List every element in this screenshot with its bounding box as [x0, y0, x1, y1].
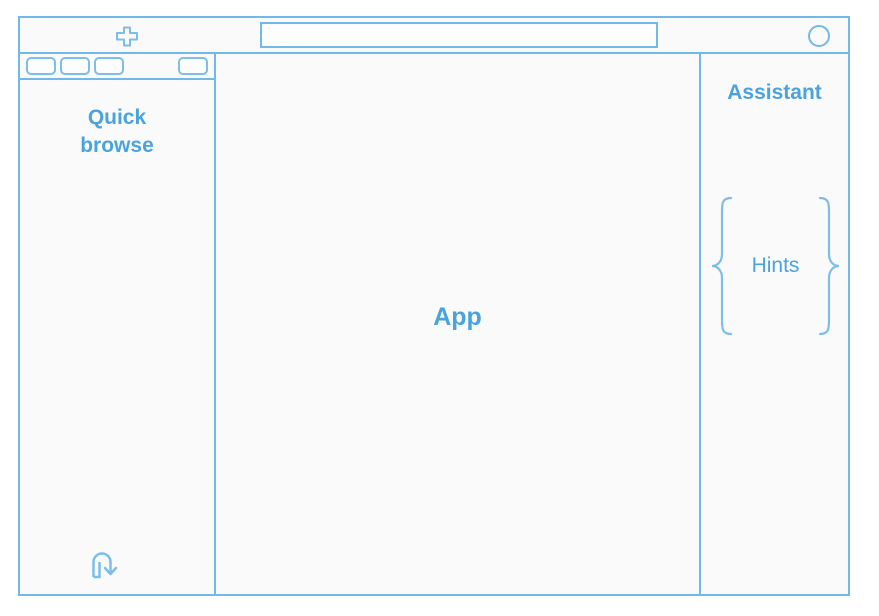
tab-chip-4[interactable] — [178, 57, 208, 75]
circle-avatar-icon[interactable] — [808, 25, 830, 47]
assistant-title: Assistant — [701, 81, 848, 105]
address-bar-input[interactable] — [260, 22, 658, 48]
app-content-area: App — [216, 54, 701, 594]
sidebar-panel: Quick browse — [20, 54, 216, 594]
hints-label: Hints — [752, 254, 800, 278]
wireframe-window: Quick browse App Assistant — [18, 16, 850, 596]
hints-group: Hints — [709, 196, 842, 336]
u-turn-arrow-icon[interactable] — [88, 550, 120, 580]
quick-browse-title: Quick browse — [20, 104, 214, 161]
sidebar-content: Quick browse — [20, 80, 214, 594]
app-label: App — [433, 303, 482, 332]
sidebar-tab-strip — [20, 54, 214, 80]
window-body: Quick browse App Assistant — [20, 54, 848, 594]
curly-brace-left-icon — [709, 196, 735, 336]
curly-brace-right-icon — [816, 196, 842, 336]
assistant-panel: Assistant Hints — [701, 54, 848, 594]
tab-chip-3[interactable] — [94, 57, 124, 75]
plus-icon[interactable] — [115, 26, 139, 48]
tab-chip-2[interactable] — [60, 57, 90, 75]
top-bar — [20, 18, 848, 54]
tab-chip-1[interactable] — [26, 57, 56, 75]
